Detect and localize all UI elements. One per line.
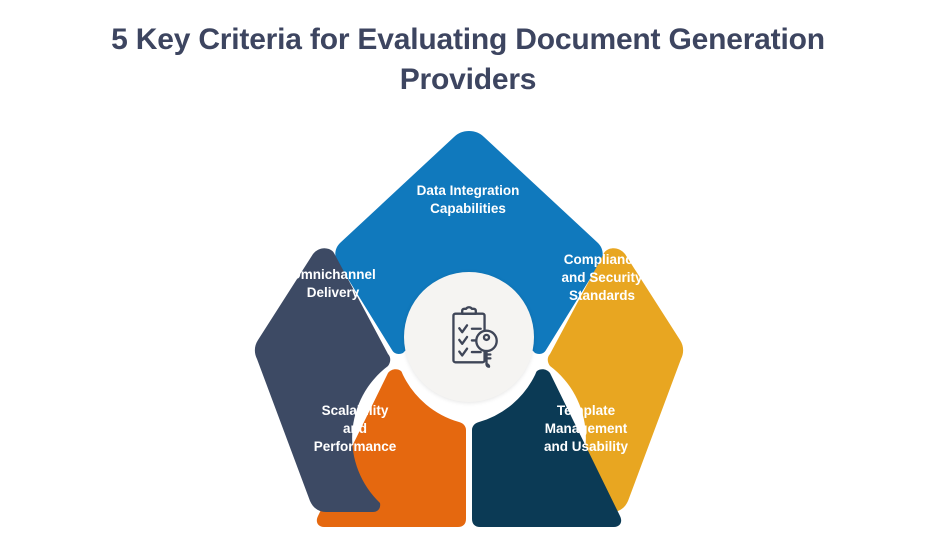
infographic-canvas: 5 Key Criteria for Evaluating Document G… xyxy=(0,0,936,540)
center-hub xyxy=(404,272,534,402)
pentagon-petal-diagram: Data Integration Capabilities Compliance… xyxy=(228,118,708,530)
page-title: 5 Key Criteria for Evaluating Document G… xyxy=(0,20,936,99)
clipboard-checklist-key-icon xyxy=(434,302,504,372)
